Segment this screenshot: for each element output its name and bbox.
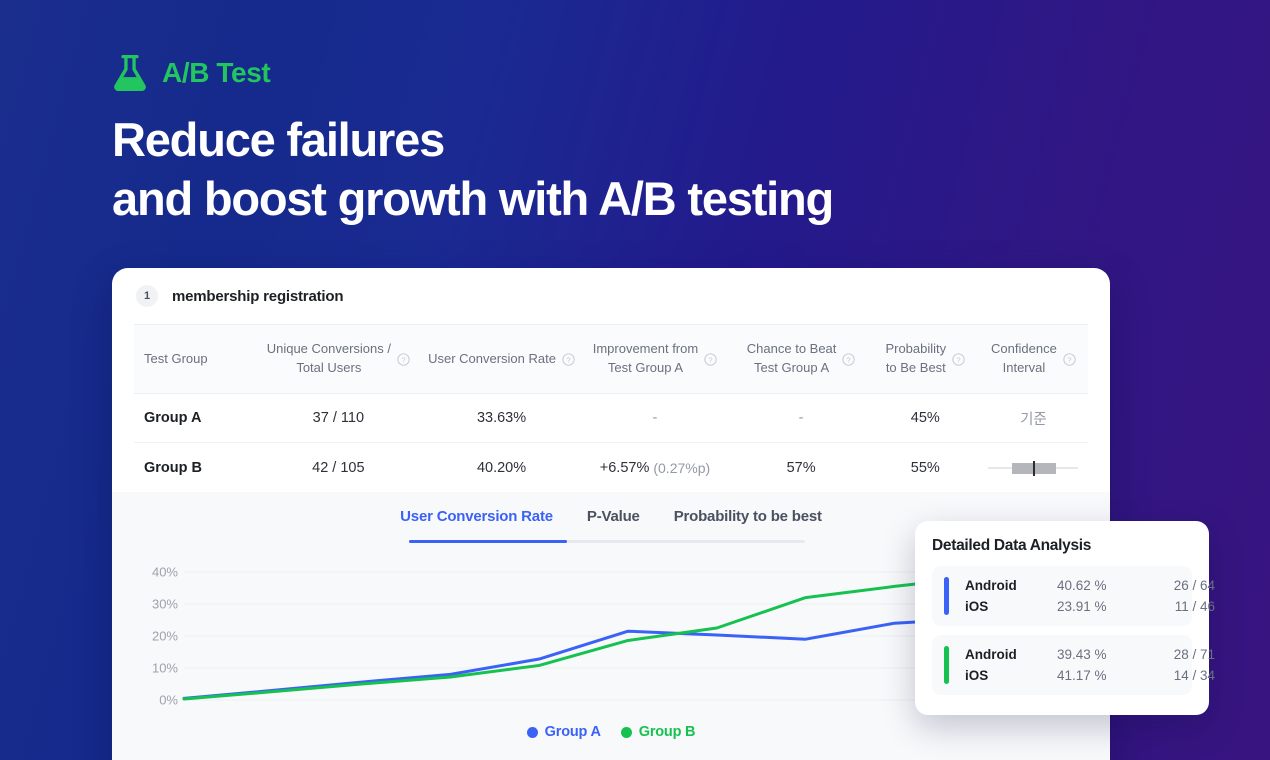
svg-text:?: ? [709, 355, 713, 364]
detail-os-label: Android [965, 647, 1057, 662]
detail-rate-value: 41.17 % [1057, 668, 1145, 683]
column-header-confidence-interval: Confidence Interval ? [979, 325, 1088, 393]
hero-eyebrow-label: A/B Test [162, 59, 270, 87]
help-icon[interactable]: ? [842, 353, 855, 366]
y-tick-20: 20% [152, 629, 178, 644]
column-header-test-group: Test Group [134, 325, 253, 393]
legend-dot-icon [527, 727, 538, 738]
cell-chance-to-beat: - [730, 410, 871, 426]
help-icon[interactable]: ? [1063, 353, 1076, 366]
help-icon[interactable]: ? [952, 353, 965, 366]
detail-fraction-value: 11 / 46 [1145, 599, 1215, 614]
y-tick-10: 10% [152, 661, 178, 676]
cell-improvement: +6.57% (0.27%p) [579, 460, 730, 476]
detail-row: Android 40.62 % 26 / 64 [965, 575, 1215, 596]
tab-probability-to-be-best[interactable]: Probability to be best [674, 508, 822, 537]
legend-label: Group B [639, 724, 696, 740]
cell-test-group: Group A [134, 410, 253, 426]
svg-text:?: ? [566, 355, 570, 364]
flask-icon [112, 52, 148, 94]
hero-section: A/B Test Reduce failures and boost growt… [112, 52, 833, 229]
ci-center-tick [1033, 461, 1035, 476]
detail-os-label: Android [965, 578, 1057, 593]
group-color-bar [944, 577, 949, 615]
improvement-value: +6.57% [600, 460, 650, 476]
cell-user-conversion-rate: 33.63% [424, 410, 580, 426]
detail-group-b: Android 39.43 % 28 / 71 iOS 41.17 % 14 /… [932, 635, 1192, 695]
table-header-row: Test Group Unique Conversions / Total Us… [134, 324, 1088, 394]
help-icon[interactable]: ? [562, 353, 575, 366]
cell-unique-conversions: 42 / 105 [253, 460, 423, 476]
help-icon[interactable]: ? [397, 353, 410, 366]
detail-fraction-value: 26 / 64 [1145, 578, 1215, 593]
cell-probability-best: 45% [872, 410, 979, 426]
cell-user-conversion-rate: 40.20% [424, 460, 580, 476]
experiment-title: membership registration [172, 288, 343, 305]
column-header-unique-conversions: Unique Conversions / Total Users ? [253, 325, 423, 393]
detail-card-title: Detailed Data Analysis [932, 537, 1192, 555]
results-table: Test Group Unique Conversions / Total Us… [134, 324, 1088, 492]
detail-fraction-value: 28 / 71 [1145, 647, 1215, 662]
cell-probability-best: 55% [872, 460, 979, 476]
experiment-card-header: 1 membership registration [112, 268, 1110, 324]
table-row[interactable]: Group A 37 / 110 33.63% - - 45% 기준 [134, 394, 1088, 443]
detail-rate-value: 23.91 % [1057, 599, 1145, 614]
cell-chance-to-beat: 57% [730, 460, 871, 476]
svg-text:?: ? [957, 355, 961, 364]
detail-os-label: iOS [965, 599, 1057, 614]
detail-row: Android 39.43 % 28 / 71 [965, 644, 1215, 665]
detailed-data-analysis-card: Detailed Data Analysis Android 40.62 % 2… [915, 521, 1209, 715]
confidence-interval-plot [988, 461, 1078, 475]
legend-item-group-b: Group B [621, 724, 696, 740]
y-tick-0: 0% [159, 693, 178, 708]
y-tick-30: 30% [152, 597, 178, 612]
detail-row: iOS 23.91 % 11 / 46 [965, 596, 1215, 617]
detail-group-a: Android 40.62 % 26 / 64 iOS 23.91 % 11 /… [932, 566, 1192, 626]
group-color-bar [944, 646, 949, 684]
cell-improvement: - [579, 410, 730, 426]
column-header-user-conversion-rate: User Conversion Rate ? [424, 325, 580, 393]
legend-label: Group A [545, 724, 601, 740]
y-tick-40: 40% [152, 565, 178, 580]
hero-eyebrow: A/B Test [112, 52, 833, 94]
legend-dot-icon [621, 727, 632, 738]
improvement-delta: (0.27%p) [653, 460, 710, 476]
legend-item-group-a: Group A [527, 724, 601, 740]
tab-p-value[interactable]: P-Value [587, 508, 640, 537]
detail-rate-value: 39.43 % [1057, 647, 1145, 662]
column-header-probability-best: Probability to Be Best ? [872, 325, 979, 393]
help-icon[interactable]: ? [704, 353, 717, 366]
svg-text:?: ? [1067, 355, 1071, 364]
y-axis-labels: 40% 30% 20% 10% 0% [132, 550, 178, 690]
detail-os-label: iOS [965, 668, 1057, 683]
cell-unique-conversions: 37 / 110 [253, 410, 423, 426]
column-header-chance-to-beat: Chance to Beat Test Group A ? [730, 325, 871, 393]
tab-underline-active [409, 540, 567, 543]
step-badge: 1 [136, 285, 158, 307]
detail-row: iOS 41.17 % 14 / 34 [965, 665, 1215, 686]
svg-text:?: ? [401, 355, 405, 364]
detail-rate-value: 40.62 % [1057, 578, 1145, 593]
svg-text:?: ? [847, 355, 851, 364]
cell-confidence-interval: 기준 [979, 408, 1088, 429]
tab-underline-rail [409, 540, 805, 543]
cell-confidence-interval [979, 461, 1088, 475]
tab-user-conversion-rate[interactable]: User Conversion Rate [400, 508, 553, 537]
hero-headline: Reduce failures and boost growth with A/… [112, 111, 833, 229]
column-header-improvement: Improvement from Test Group A ? [579, 325, 730, 393]
chart-legend: Group A Group B [112, 724, 1110, 740]
cell-test-group: Group B [134, 460, 253, 476]
table-row[interactable]: Group B 42 / 105 40.20% +6.57% (0.27%p) … [134, 443, 1088, 492]
detail-fraction-value: 14 / 34 [1145, 668, 1215, 683]
